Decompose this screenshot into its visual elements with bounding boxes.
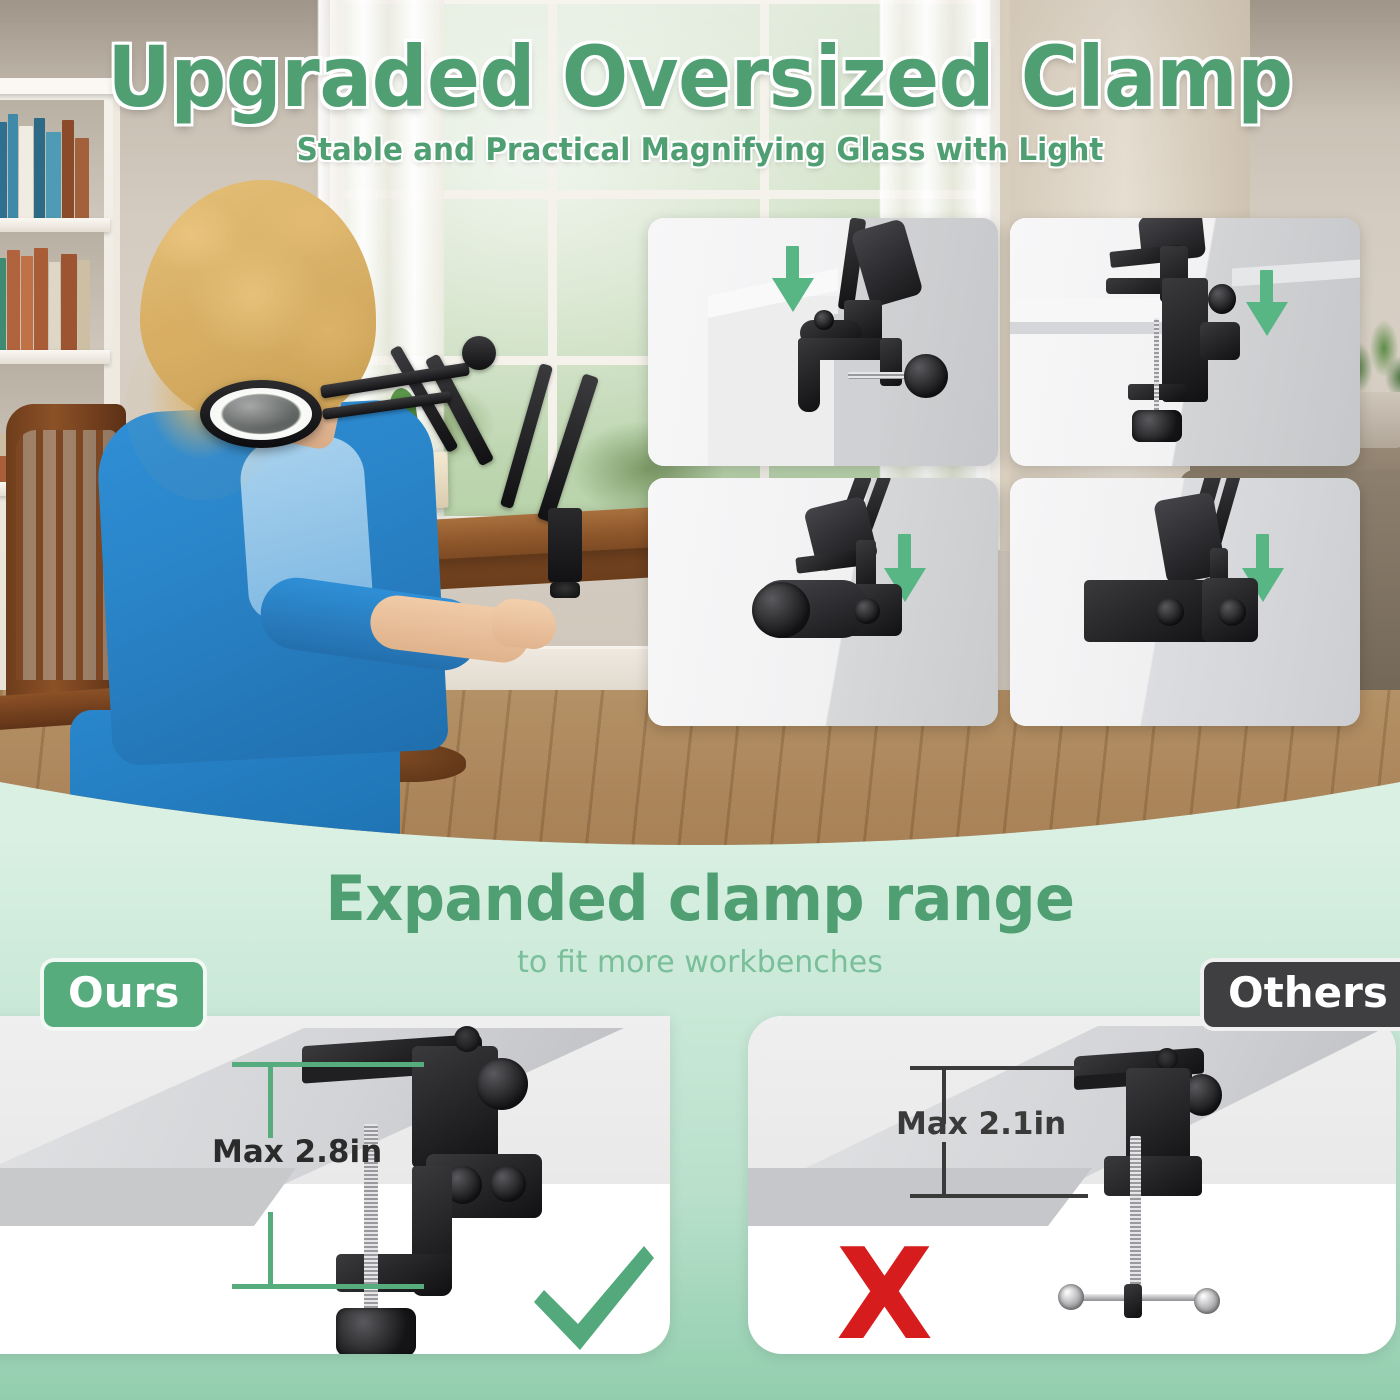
clamp-tighten-knob — [1132, 410, 1182, 442]
down-arrow-icon-head — [772, 278, 814, 312]
clamp-t-handle-ball-left — [1058, 1284, 1084, 1310]
product-infographic-canvas: Upgraded Oversized Clamp Stable and Prac… — [0, 0, 1400, 1400]
comparison-heading-block: Expanded clamp range to fit more workben… — [0, 862, 1400, 980]
clamp-socket-block — [1200, 322, 1240, 360]
down-arrow-icon — [1256, 534, 1269, 570]
check-icon — [528, 1240, 658, 1354]
dim-stem-bottom — [942, 1142, 946, 1198]
detail-panel-clamp-under-desk-side — [1010, 218, 1360, 466]
comparison-panel-ours: Max 2.8in — [0, 1016, 670, 1354]
dimension-label-ours: Max 2.8in — [212, 1134, 382, 1170]
clamp-lower-jaw — [1104, 1156, 1202, 1196]
clamp-thumbscrew-knob — [476, 1058, 528, 1110]
lens-glass — [220, 394, 302, 434]
clamp-large-knob — [752, 582, 810, 638]
dim-stem-bottom — [268, 1212, 273, 1288]
down-arrow-icon-head — [1246, 302, 1288, 336]
comparison-panel-others: Max 2.1in X — [748, 1016, 1396, 1354]
window-mullion — [548, 4, 557, 516]
clamp-threaded-rod — [1130, 1136, 1141, 1306]
badge-ours: Ours — [40, 958, 207, 1031]
clamp-t-handle-hub — [1124, 1284, 1142, 1318]
person-reading — [30, 170, 490, 810]
down-arrow-icon — [898, 534, 911, 570]
clamp-top-hole — [454, 1026, 480, 1052]
clamp-t-handle-ball-right — [1194, 1288, 1220, 1314]
down-arrow-icon — [786, 246, 799, 282]
clamp-rod — [848, 372, 906, 379]
dim-top-cap — [232, 1062, 424, 1067]
section-subtitle: to fit more workbenches — [0, 945, 1400, 980]
dim-top-cap — [910, 1066, 1080, 1070]
detail-panel-clamp-on-desk-edge-front — [648, 218, 998, 466]
clamp-top-hole — [1156, 1048, 1178, 1070]
small-thumbscrew — [814, 310, 834, 330]
dimension-label-others: Max 2.1in — [896, 1106, 1066, 1142]
magnifier-lens — [200, 380, 322, 448]
clamp-detail-panel-grid — [648, 218, 1360, 730]
clamp-tighten-knob — [336, 1308, 416, 1354]
hero-lifestyle-image: Upgraded Oversized Clamp Stable and Prac… — [0, 0, 1400, 845]
clamp-socket-hole-2 — [1218, 598, 1246, 626]
section-title: Expanded clamp range — [35, 862, 1365, 935]
lamp-joint — [462, 336, 496, 370]
clamp-socket-hole — [1156, 598, 1184, 626]
dim-stem-top — [268, 1062, 273, 1138]
x-icon: X — [836, 1232, 933, 1354]
clamp-socket-hole — [854, 598, 880, 624]
detail-panel-clamp-knob-closeup — [648, 478, 998, 726]
clamp-knob — [904, 354, 948, 398]
dim-bottom-cap — [232, 1284, 424, 1289]
dim-bottom-cap — [910, 1194, 1088, 1198]
clamp-threaded-rod — [1154, 318, 1159, 414]
clamp-socket-hole-2 — [490, 1166, 526, 1202]
detail-panel-clamp-mount-angle — [1010, 478, 1360, 726]
bookshelf-top — [0, 78, 122, 94]
desk-clamp-in-scene — [548, 508, 582, 582]
clamp-thumbscrew — [1208, 284, 1236, 314]
down-arrow-icon — [1260, 270, 1273, 304]
badge-others: Others — [1200, 958, 1400, 1031]
